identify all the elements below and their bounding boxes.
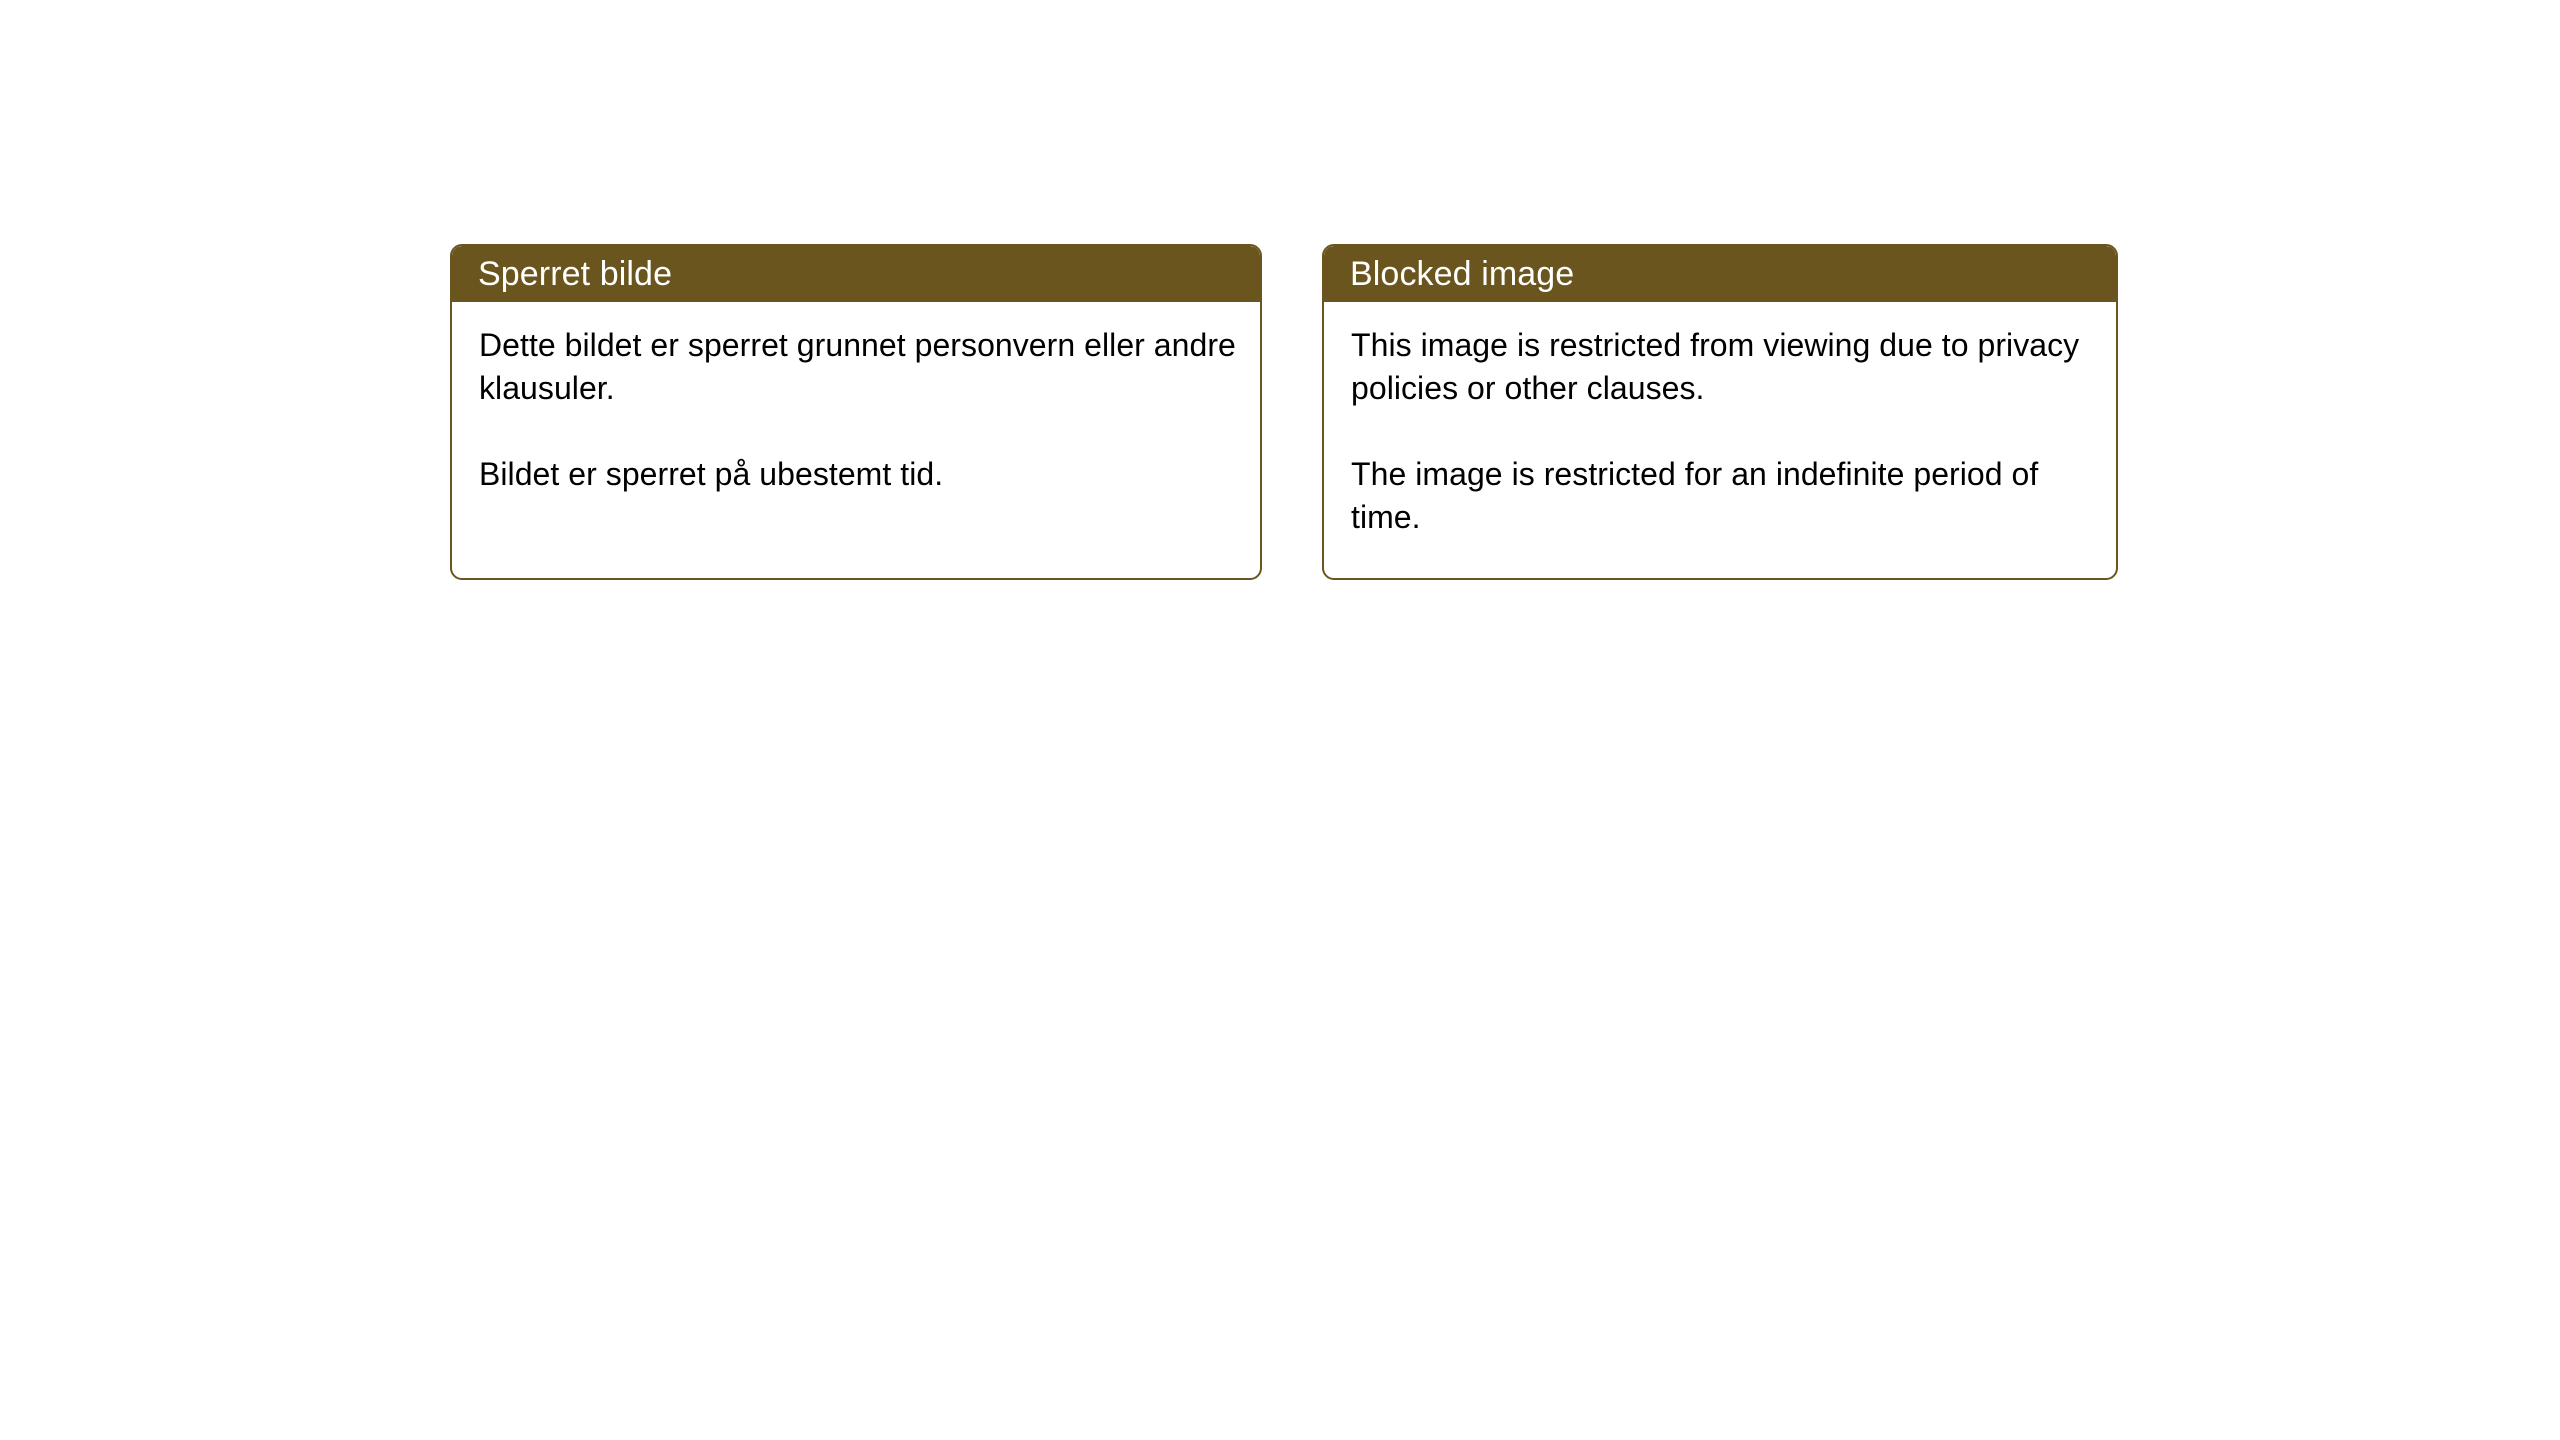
panel-header-norwegian: Sperret bilde [452, 246, 1260, 302]
panel-body-norwegian: Dette bildet er sperret grunnet personve… [452, 302, 1260, 516]
blocked-image-notice-english: Blocked image This image is restricted f… [1322, 244, 2118, 580]
panel-paragraph: The image is restricted for an indefinit… [1351, 453, 2092, 539]
panel-paragraph: Dette bildet er sperret grunnet personve… [479, 324, 1236, 410]
panel-title-norwegian: Sperret bilde [478, 257, 672, 291]
panel-title-english: Blocked image [1350, 257, 1574, 291]
blocked-image-notice-norwegian: Sperret bilde Dette bildet er sperret gr… [450, 244, 1262, 580]
panel-header-english: Blocked image [1324, 246, 2116, 302]
page-canvas: Sperret bilde Dette bildet er sperret gr… [0, 0, 2560, 1440]
panel-paragraph: This image is restricted from viewing du… [1351, 324, 2092, 410]
panel-paragraph: Bildet er sperret på ubestemt tid. [479, 453, 1236, 496]
panel-body-english: This image is restricted from viewing du… [1324, 302, 2116, 559]
